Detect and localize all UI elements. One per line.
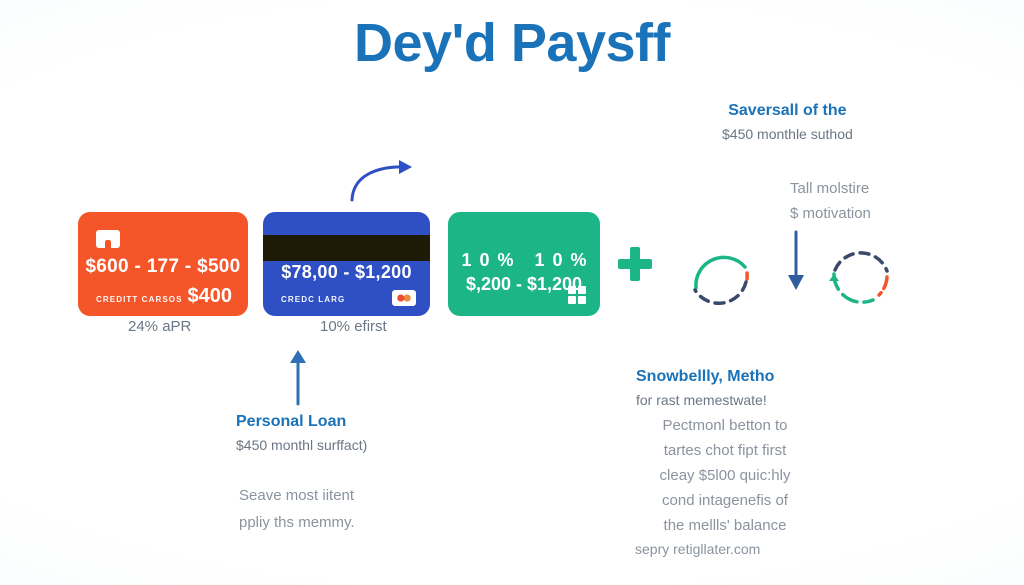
personal-loan-heading: Personal Loan [236, 413, 367, 431]
plus-icon [618, 247, 652, 281]
card-brand-orange: CREDITT CARSOS [96, 295, 183, 304]
snowball-body-line-4: cond intagenefis of [645, 488, 805, 513]
credit-card-orange[interactable]: $600 - 177 - $500 CREDITT CARSOS $400 [78, 212, 248, 316]
card-brand-blue: CREDC LARG [281, 295, 345, 304]
personal-loan-body: Seave most iitent ppliy ths memmy. [239, 482, 355, 536]
debit-card-green[interactable]: 10% 10% $,200 - $1,200 [448, 212, 600, 316]
arrow-curve-right-icon [348, 158, 424, 202]
grid-icon [568, 286, 586, 304]
snowball-block: Snowbellly, Metho for rast memestwate! [636, 368, 774, 408]
motivation-line-2: $ motivation [790, 201, 871, 226]
snowball-url-block[interactable]: sepry retigllater.com [635, 536, 760, 563]
savers-sub: $450 monthle suthod [722, 126, 853, 142]
ring-right-arrowhead [829, 274, 839, 281]
infographic-canvas: Dey'd Paysff $600 - 177 - $500 CREDITT C… [0, 0, 1024, 585]
card-caption-orange: 24% aPR [128, 318, 191, 335]
ring-right-green-segment [834, 274, 873, 302]
savers-heading: Saversall of the [722, 102, 853, 120]
card-amount-orange: $600 - 177 - $500 [78, 256, 248, 278]
motivation-block: Tall molstire $ motivation [790, 176, 871, 226]
personal-loan-sub: $450 monthl surffact) [236, 437, 367, 453]
arrow-down-icon [785, 230, 807, 292]
snowball-body-line-1: Pectmonl betton to [645, 413, 805, 438]
card-caption-blue: 10% efirst [320, 318, 387, 335]
snowball-url[interactable]: sepry retigllater.com [635, 536, 760, 563]
snowball-body-line-5: the mellls' balance [645, 513, 805, 538]
snowball-sub: for rast memestwate! [636, 392, 774, 408]
card-rates-green: 10% 10% [448, 250, 600, 271]
credit-card-blue[interactable]: $78,00 - $1,200 CREDC LARG [263, 212, 430, 316]
snowball-body: Pectmonl betton to tartes chot fipt firs… [645, 413, 805, 538]
ring-chart-left [685, 240, 755, 310]
motivation-line-1: Tall molstire [790, 176, 871, 201]
arrow-up-icon [287, 348, 309, 406]
personal-loan-block: Personal Loan $450 monthl surffact) [236, 413, 367, 453]
chip-icon [96, 230, 120, 248]
ring-chart-right [825, 240, 895, 310]
personal-loan-body-line-2: ppliy ths memmy. [239, 509, 355, 536]
personal-loan-body-line-1: Seave most iitent [239, 482, 355, 509]
snowball-body-line-2: tartes chot fipt first [645, 438, 805, 463]
ring-right-navy-segment [835, 253, 887, 271]
savers-block: Saversall of the $450 monthle suthod [722, 102, 853, 142]
ring-left-green-segment [696, 257, 745, 288]
card-network-logo-icon [392, 290, 416, 306]
snowball-heading: Snowbellly, Metho [636, 368, 774, 386]
ring-left-navy-segment [695, 282, 746, 303]
magnetic-stripe [263, 235, 430, 261]
card-balance-orange: $400 [188, 285, 233, 308]
page-title: Dey'd Paysff [0, 12, 1024, 74]
snowball-body-line-3: cleay $5l00 quic:hly [645, 463, 805, 488]
card-amount-blue: $78,00 - $1,200 [263, 262, 430, 283]
ring-right-orange-segment [879, 277, 887, 295]
